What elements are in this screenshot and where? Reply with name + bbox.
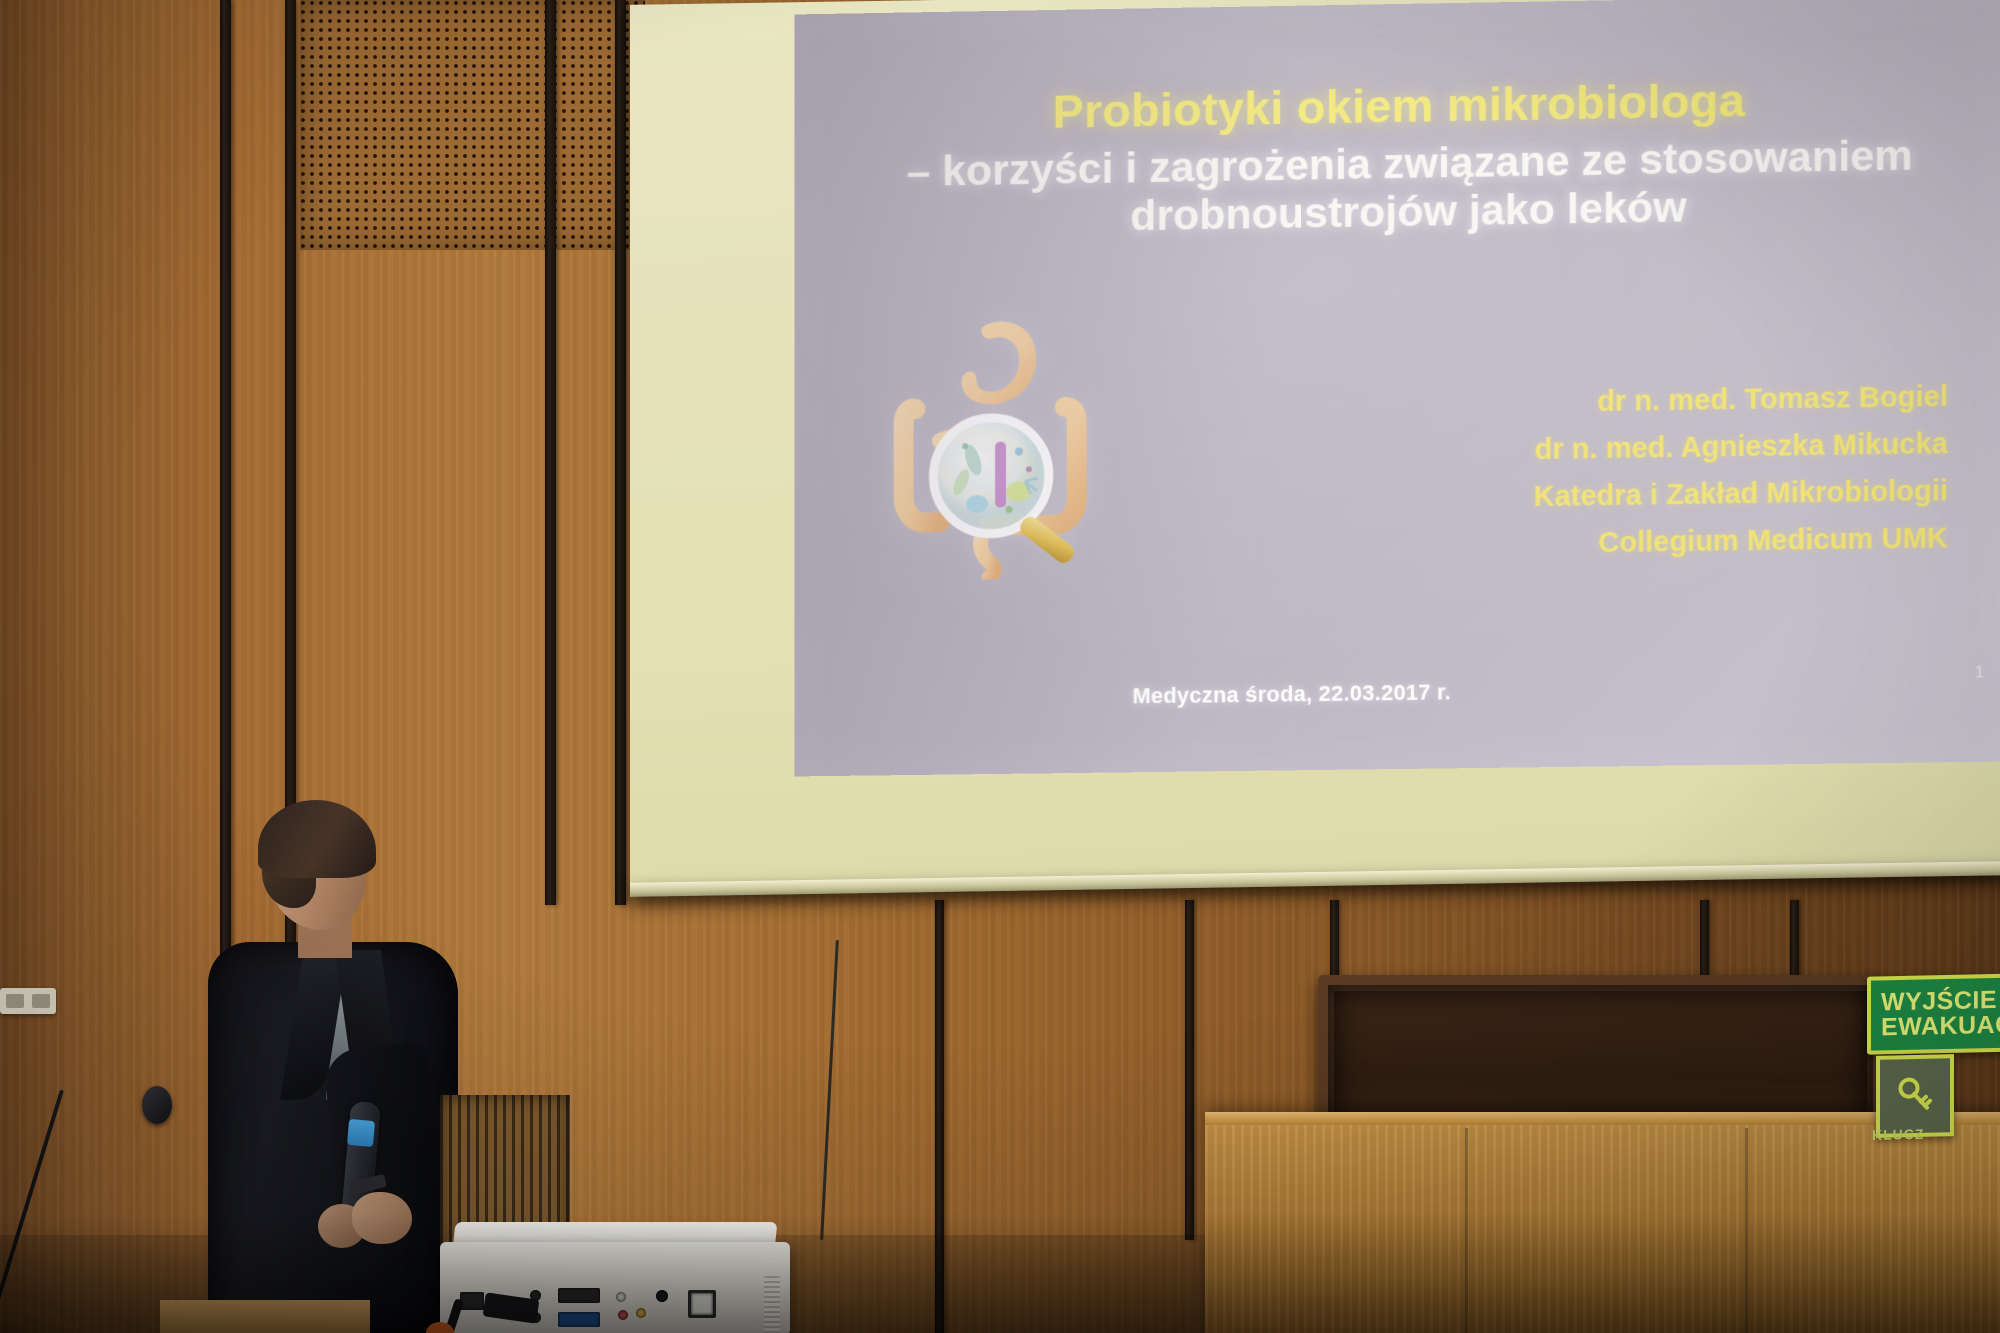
photo-vignette [0,0,2000,1333]
floor-shadow [0,1213,2000,1333]
lecture-hall-scene: Probiotyki okiem mikrobiologa – korzyści… [0,0,2000,1333]
